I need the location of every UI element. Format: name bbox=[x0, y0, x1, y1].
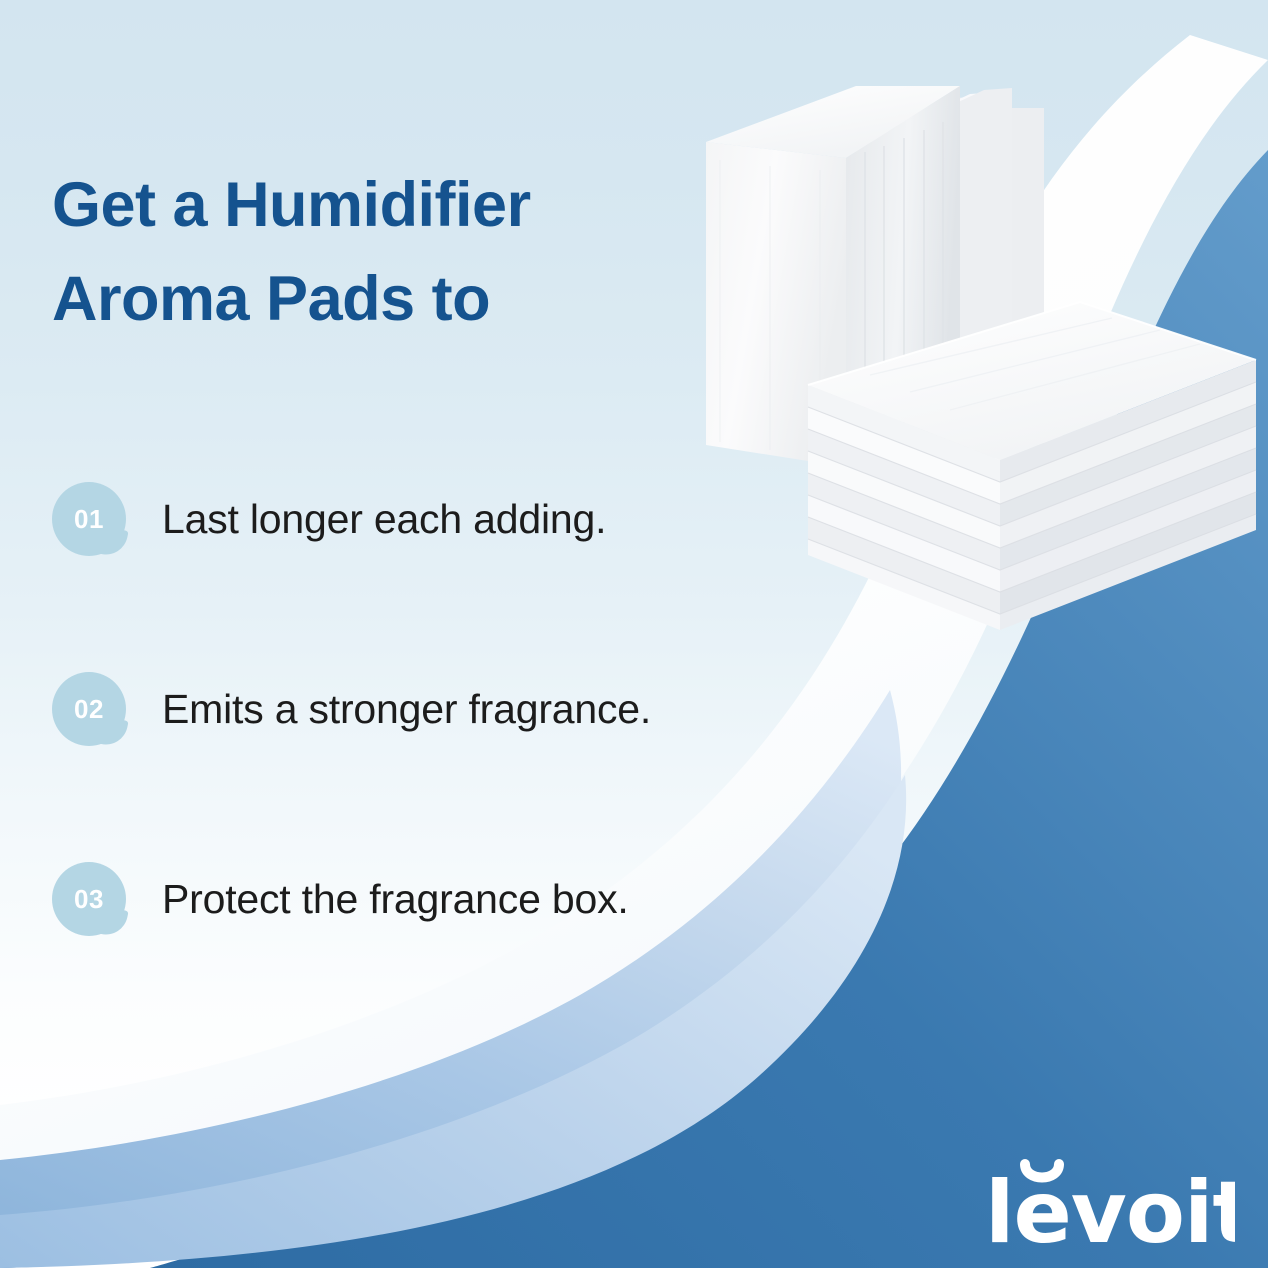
list-item: 03 Protect the fragrance box. bbox=[52, 856, 629, 942]
badge-number-label: 01 bbox=[52, 482, 126, 556]
product-image-aroma-pads bbox=[660, 30, 1268, 650]
headline-line-1: Get a Humidifier bbox=[52, 158, 692, 252]
number-badge: 02 bbox=[52, 672, 126, 746]
feature-text: Protect the fragrance box. bbox=[162, 876, 629, 923]
badge-number-label: 03 bbox=[52, 862, 126, 936]
wave-light-secondary bbox=[0, 775, 906, 1268]
logo-wordmark: levoit bbox=[985, 1163, 1235, 1255]
page-title: Get a Humidifier Aroma Pads to bbox=[52, 158, 692, 346]
list-item: 02 Emits a stronger fragrance. bbox=[52, 666, 651, 752]
headline-line-2: Aroma Pads to bbox=[52, 252, 692, 346]
number-badge: 01 bbox=[52, 482, 126, 556]
badge-number-label: 02 bbox=[52, 672, 126, 746]
number-badge: 03 bbox=[52, 862, 126, 936]
wave-dark-secondary bbox=[0, 720, 887, 1268]
list-item: 01 Last longer each adding. bbox=[52, 476, 606, 562]
feature-text: Emits a stronger fragrance. bbox=[162, 686, 651, 733]
feature-text: Last longer each adding. bbox=[162, 496, 606, 543]
product-marketing-banner: Get a Humidifier Aroma Pads to 01 Last l… bbox=[0, 0, 1268, 1268]
wave-light-primary bbox=[0, 690, 901, 1268]
levoit-logo: levoit bbox=[985, 1150, 1235, 1255]
